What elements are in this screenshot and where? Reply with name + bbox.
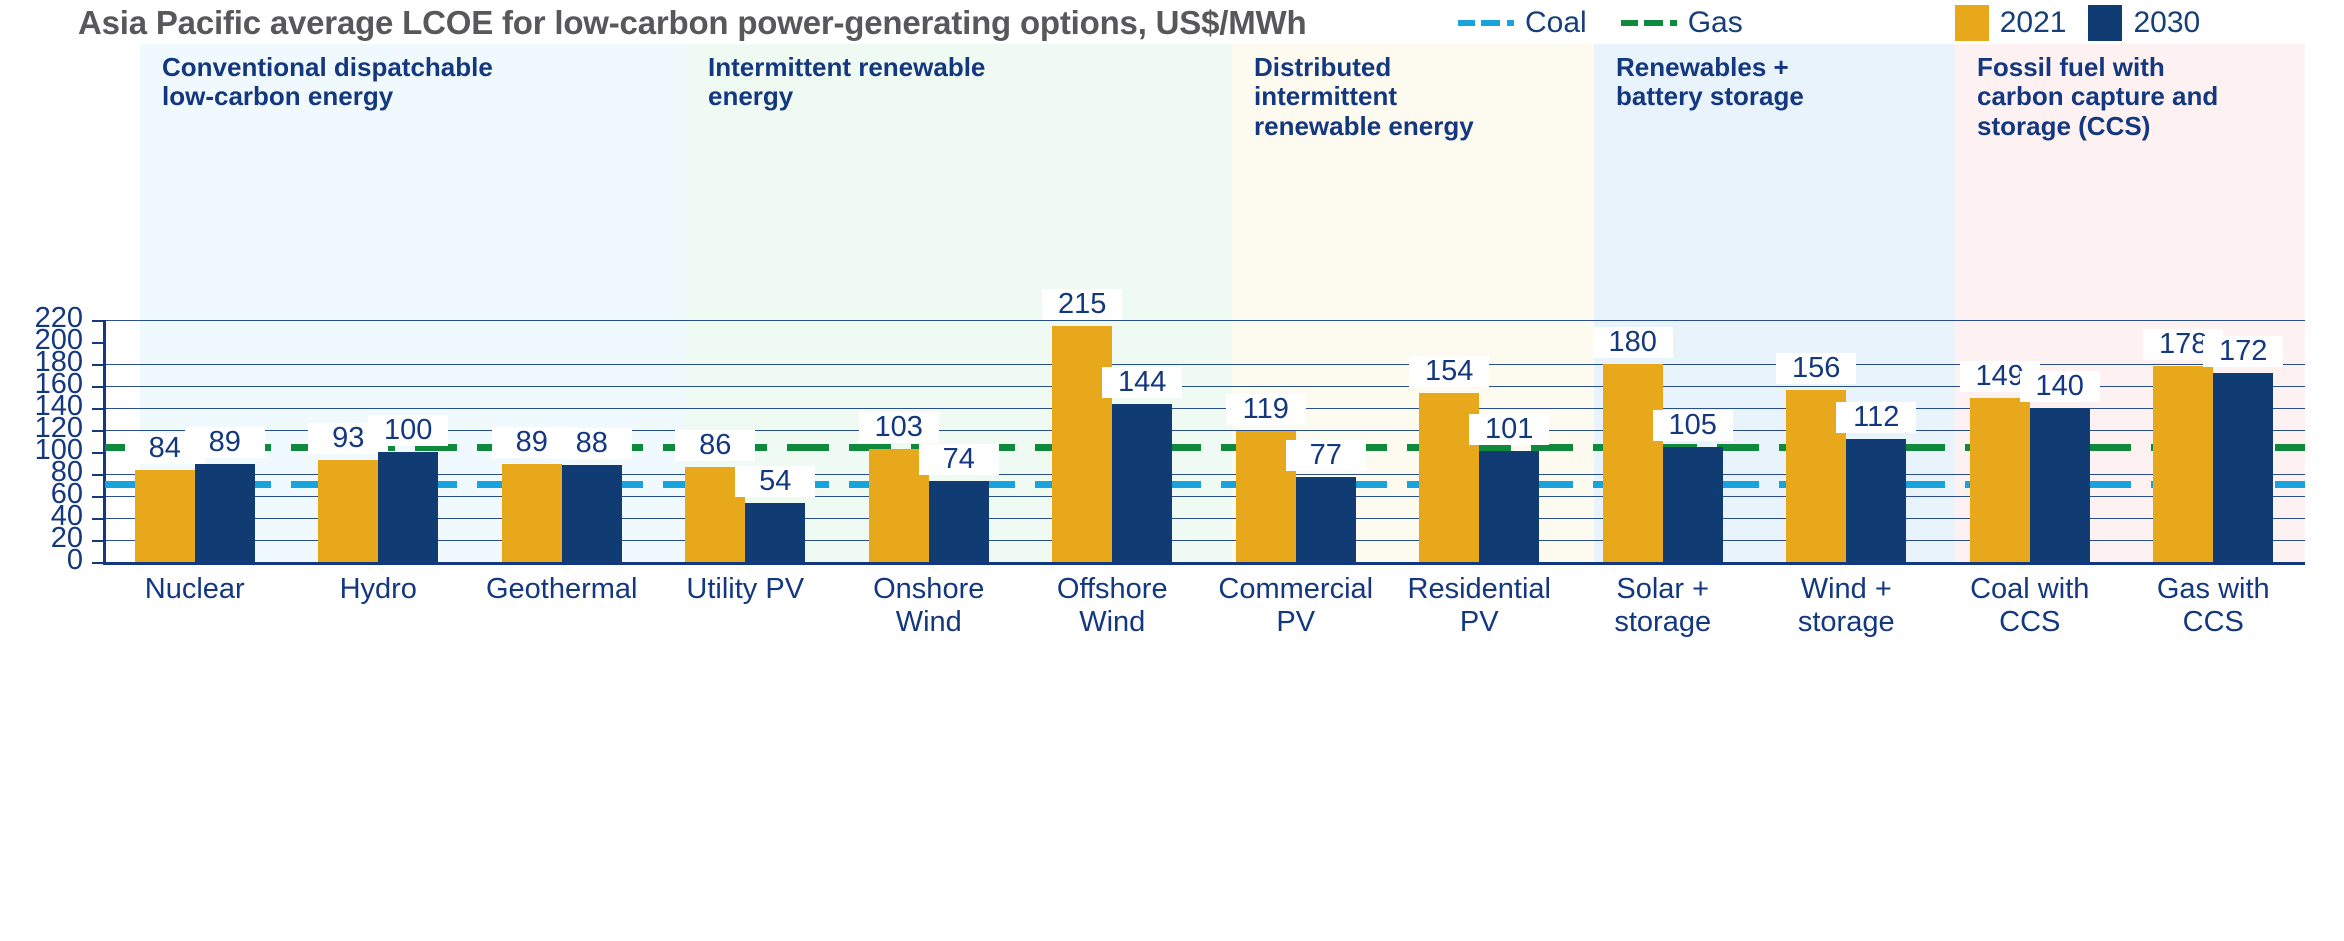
legend-item-2021[interactable]: 2021 (1955, 5, 2067, 41)
swatch-2030-icon (2088, 5, 2122, 41)
bar-2021-6[interactable] (1236, 431, 1296, 562)
bar-2030-10[interactable] (2030, 408, 2090, 562)
gas-dashline-icon (1621, 20, 1677, 26)
legend-item-2030[interactable]: 2030 (2088, 5, 2200, 41)
chart-legend: Coal Gas 2021 2030 (1458, 2, 2200, 44)
legend-label-gas: Gas (1688, 6, 1743, 40)
x-axis-label-4: Onshore Wind (834, 573, 1024, 639)
legend-label-2030: 2030 (2133, 6, 2200, 40)
x-axis-label-5: Offshore Wind (1017, 573, 1207, 639)
x-axis-label-0: Nuclear (100, 573, 290, 606)
bar-2021-10[interactable] (1970, 398, 2030, 562)
swatch-2021-icon (1955, 5, 1989, 41)
bar-2021-11[interactable] (2153, 366, 2213, 562)
bar-2021-4[interactable] (869, 449, 929, 562)
bar-2030-0[interactable] (195, 464, 255, 562)
y-tick-label-220: 220 (35, 302, 83, 335)
bar-2030-6[interactable] (1296, 477, 1356, 562)
bar-2021-3[interactable] (685, 467, 745, 562)
category-band-title: Distributed intermittent renewable energ… (1254, 53, 1474, 141)
bar-2021-1[interactable] (318, 460, 378, 562)
chart-page: Asia Pacific average LCOE for low-carbon… (0, 0, 2344, 941)
x-axis-label-11: Gas with CCS (2118, 573, 2308, 639)
x-axis-label-2: Geothermal (467, 573, 657, 606)
category-band-title: Renewables + battery storage (1616, 53, 1804, 112)
x-axis-label-6: Commercial PV (1201, 573, 1391, 639)
category-band-title: Intermittent renewable energy (708, 53, 985, 112)
legend-item-coal[interactable]: Coal (1458, 6, 1587, 40)
bar-2030-11[interactable] (2213, 373, 2273, 562)
x-axis-label-3: Utility PV (650, 573, 840, 606)
bar-2021-0[interactable] (135, 470, 195, 562)
x-axis-label-1: Hydro (283, 573, 473, 606)
legend-item-gas[interactable]: Gas (1621, 6, 1743, 40)
bar-2030-3[interactable] (745, 503, 805, 562)
coal-dashline-icon (1458, 20, 1514, 26)
bar-2021-9[interactable] (1786, 390, 1846, 562)
legend-label-coal: Coal (1525, 6, 1587, 40)
category-band-title: Fossil fuel with carbon capture and stor… (1977, 53, 2218, 141)
x-axis-label-10: Coal with CCS (1935, 573, 2125, 639)
x-axis-label-9: Wind + storage (1751, 573, 1941, 639)
bar-2030-2[interactable] (562, 465, 622, 562)
bar-2021-8[interactable] (1603, 364, 1663, 562)
bar-2021-2[interactable] (502, 464, 562, 562)
x-axis (103, 562, 2305, 565)
x-axis-label-7: Residential PV (1384, 573, 1574, 639)
legend-label-2021: 2021 (2000, 6, 2067, 40)
bar-2030-5[interactable] (1112, 404, 1172, 562)
bar-2030-9[interactable] (1846, 439, 1906, 562)
y-tick-0 (92, 562, 104, 564)
page-title: Asia Pacific average LCOE for low-carbon… (78, 4, 1306, 42)
bar-2030-7[interactable] (1479, 451, 1539, 562)
bar-2021-5[interactable] (1052, 326, 1112, 563)
bar-2021-7[interactable] (1419, 393, 1479, 562)
bar-2030-8[interactable] (1663, 447, 1723, 563)
bar-2030-1[interactable] (378, 452, 438, 562)
x-axis-label-8: Solar + storage (1568, 573, 1758, 639)
category-band-title: Conventional dispatchable low-carbon ene… (162, 53, 493, 112)
bar-2030-4[interactable] (929, 481, 989, 562)
